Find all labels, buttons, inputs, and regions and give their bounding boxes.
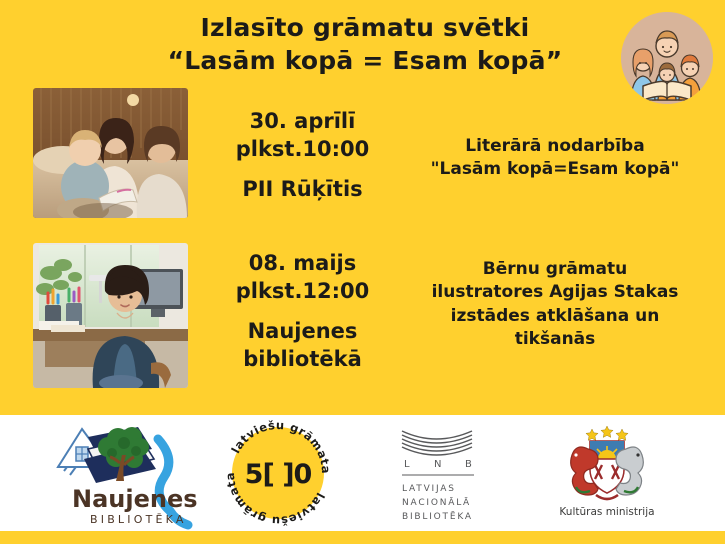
lnb-initial-l: L — [404, 459, 411, 470]
title-line-2: “Lasām kopā = Esam kopā” — [120, 45, 610, 78]
title-line-1: Izlasīto grāmatu svētki — [120, 12, 610, 45]
event-2-description-line-2: ilustratores Agijas Stakas — [405, 281, 705, 304]
event-1-time: plkst.10:00 — [195, 136, 410, 164]
badge-center-number: 5[ ]0 — [245, 459, 312, 490]
event-1-when: 30. aprīlī plkst.10:00 PII Rūķītis — [195, 108, 410, 204]
event-2-time: plkst.12:00 — [195, 278, 410, 306]
page-title: Izlasīto grāmatu svētki “Lasām kopā = Es… — [120, 12, 610, 77]
lnb-initial-n: N — [434, 459, 442, 470]
lnb-line-2: NACIONĀLĀ — [402, 497, 471, 508]
family-reading-circle-illustration — [621, 12, 713, 104]
event-2-place-line-2: bibliotēkā — [195, 346, 410, 374]
naujenes-biblioteka-logo: Naujenes BIBLIOTĒKA — [40, 415, 220, 531]
latviesu-gramatai-500-badge: latviešu grāmatai latviešu grāmatai 5[ ]… — [222, 415, 334, 531]
event-2-place-line-1: Naujenes — [195, 318, 410, 346]
illustrator-at-studio-desk-photo — [33, 243, 188, 388]
lnb-line-1: LATVIJAS — [402, 484, 456, 494]
lnb-initial-b: B — [465, 459, 473, 470]
event-2-date: 08. maijs — [195, 250, 410, 278]
footer-accent-strip — [0, 531, 725, 544]
event-1-date: 30. aprīlī — [195, 108, 410, 136]
event-1-description-line-2: "Lasām kopā=Esam kopā" — [405, 158, 705, 181]
event-1-description-line-1: Literārā nodarbība — [405, 135, 705, 158]
lnb-line-3: BIBLIOTĒKA — [402, 511, 473, 522]
event-2-description: Bērnu grāmatu ilustratores Agijas Stakas… — [405, 258, 705, 352]
kulturas-ministrija-caption: Kultūras ministrija — [559, 506, 654, 518]
event-1-place: PII Rūķītis — [195, 176, 410, 204]
naujenes-logo-subtitle: BIBLIOTĒKA — [90, 513, 187, 526]
event-2-when: 08. maijs plkst.12:00 Naujenes bibliotēk… — [195, 250, 410, 374]
event-2-description-line-3: izstādes atklāšana un — [405, 305, 705, 328]
event-1-description: Literārā nodarbība "Lasām kopā=Esam kopā… — [405, 135, 705, 182]
latvijas-nacionala-biblioteka-logo: L N B LATVIJAS NACIONĀLĀ BIBLIOTĒKA — [380, 415, 515, 531]
naujenes-logo-title: Naujenes — [72, 485, 198, 513]
event-2-description-line-4: tikšanās — [405, 328, 705, 351]
poster-root: Izlasīto grāmatu svētki “Lasām kopā = Es… — [0, 0, 725, 544]
footer-logo-bar: Naujenes BIBLIOTĒKA latviešu grāmatai la… — [0, 415, 725, 531]
kulturas-ministrija-logo: Kultūras ministrija — [540, 415, 675, 531]
event-2-description-line-1: Bērnu grāmatu — [405, 258, 705, 281]
family-reading-on-bed-photo — [33, 88, 188, 218]
